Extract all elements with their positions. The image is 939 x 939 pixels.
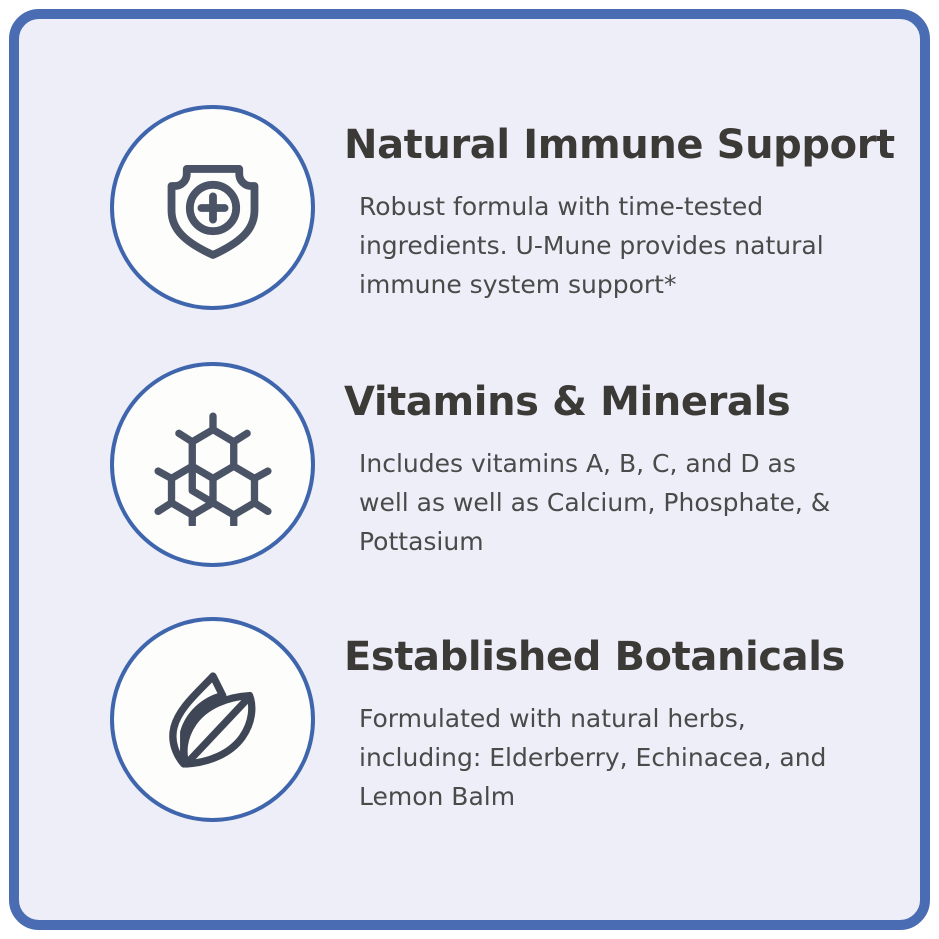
molecule-hexagons-icon-badge xyxy=(110,362,315,567)
feature-body: Includes vitamins A, B, C, and D as well… xyxy=(344,422,849,561)
molecule-hexagons-icon xyxy=(152,404,274,526)
shield-plus-icon xyxy=(152,147,274,269)
feature-title: Vitamins & Minerals xyxy=(344,362,880,422)
feature-row: Natural Immune Support Robust formula wi… xyxy=(19,105,920,355)
feature-body: Robust formula with time-tested ingredie… xyxy=(344,165,849,304)
feature-title: Natural Immune Support xyxy=(344,105,895,165)
feature-row: Vitamins & Minerals Includes vitamins A,… xyxy=(19,362,920,612)
leaves-icon xyxy=(152,659,274,781)
infographic-panel: Natural Immune Support Robust formula wi… xyxy=(9,9,930,930)
feature-title: Established Botanicals xyxy=(344,617,880,677)
feature-text: Natural Immune Support Robust formula wi… xyxy=(315,105,935,304)
feature-text: Vitamins & Minerals Includes vitamins A,… xyxy=(315,362,920,561)
feature-body: Formulated with natural herbs, including… xyxy=(344,677,849,816)
feature-row: Established Botanicals Formulated with n… xyxy=(19,617,920,867)
feature-list: Natural Immune Support Robust formula wi… xyxy=(19,19,920,920)
shield-plus-icon-badge xyxy=(110,105,315,310)
feature-text: Established Botanicals Formulated with n… xyxy=(315,617,920,816)
leaves-icon-badge xyxy=(110,617,315,822)
